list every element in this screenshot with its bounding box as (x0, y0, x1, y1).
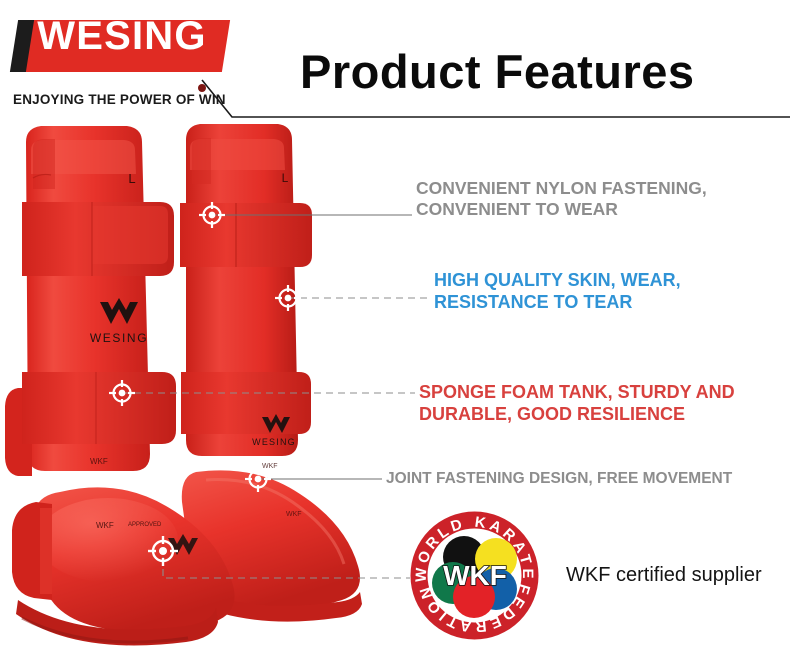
leader-line-5 (163, 557, 410, 578)
wkf-center-text: WKF (443, 560, 507, 591)
callout-joint-fastening: JOINT FASTENING DESIGN, FREE MOVEMENT (386, 470, 732, 489)
crosshair-marker-5 (148, 536, 178, 566)
callout-high-quality-skin: HIGH QUALITY SKIN, WEAR, RESISTANCE TO T… (434, 270, 681, 314)
crosshair-marker-2 (275, 285, 301, 311)
crosshair-marker-4 (245, 466, 271, 492)
callout-wkf-supplier: WKF certified supplier (566, 563, 762, 587)
product-features-infographic: WESING ENJOYING THE POWER OF WIN Product… (0, 0, 790, 667)
crosshair-marker-1 (199, 202, 225, 228)
crosshair-marker-3 (109, 380, 135, 406)
callout-nylon-fastening: CONVENIENT NYLON FASTENING, CONVENIENT T… (416, 178, 707, 221)
callout-sponge-foam: SPONGE FOAM TANK, STURDY AND DURABLE, GO… (419, 382, 735, 426)
wkf-logo: WORLD KARATE FEDERATION WKF (408, 509, 541, 642)
